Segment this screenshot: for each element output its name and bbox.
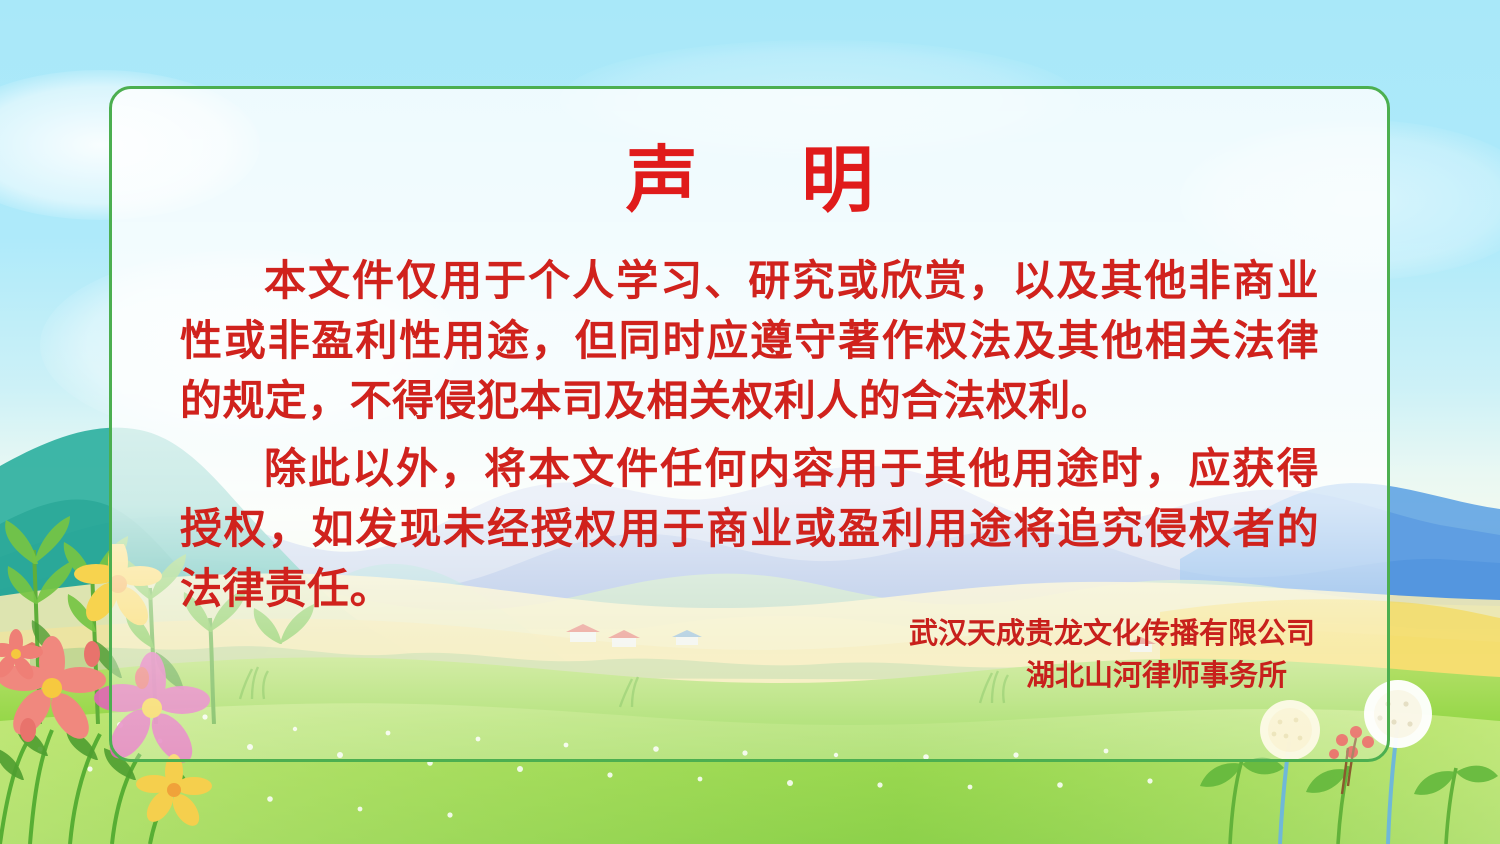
signature-block: 武汉天成贵龙文化传播有限公司 湖北山河律师事务所 bbox=[909, 613, 1315, 697]
content-frame: 声 明 本文件仅用于个人学习、研究或欣赏，以及其他非商业性或非盈利性用途，但同时… bbox=[109, 86, 1390, 762]
signature-law-firm: 湖北山河律师事务所 bbox=[909, 655, 1315, 697]
statement-paragraph-1: 本文件仅用于个人学习、研究或欣赏，以及其他非商业性或非盈利性用途，但同时应遵守著… bbox=[170, 217, 1329, 431]
statement-paragraph-2: 除此以外，将本文件任何内容用于其他用途时，应获得授权，如发现未经授权用于商业或盈… bbox=[170, 431, 1329, 619]
slide-canvas: 声 明 本文件仅用于个人学习、研究或欣赏，以及其他非商业性或非盈利性用途，但同时… bbox=[0, 0, 1500, 844]
page-title: 声 明 bbox=[170, 89, 1329, 217]
signature-company: 武汉天成贵龙文化传播有限公司 bbox=[909, 613, 1315, 655]
